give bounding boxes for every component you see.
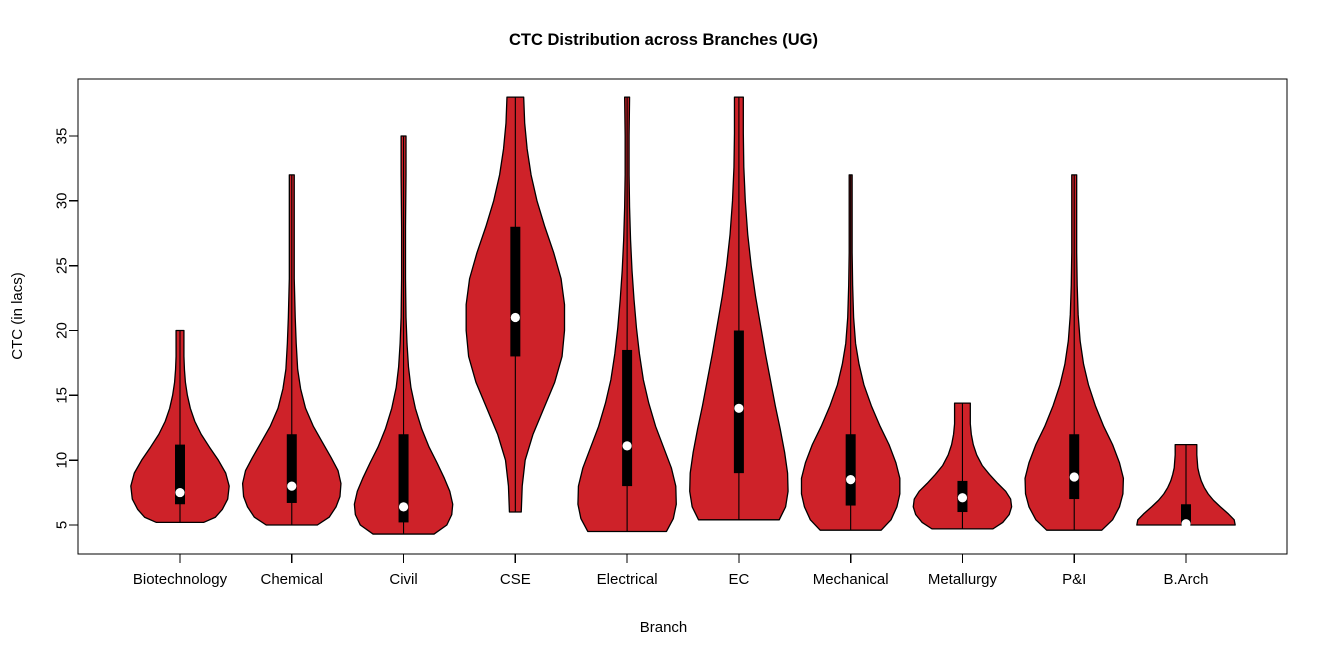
x-tick-label-ec: EC bbox=[728, 571, 749, 588]
x-axis-title: Branch bbox=[640, 619, 688, 636]
violin-iqr-box bbox=[622, 350, 632, 486]
y-tick-label: 35 bbox=[54, 128, 71, 145]
x-tick-label-civil: Civil bbox=[389, 571, 417, 588]
y-tick-label: 20 bbox=[54, 322, 71, 339]
x-tick-label-b-arch: B.Arch bbox=[1163, 571, 1208, 588]
y-tick-label: 15 bbox=[54, 387, 71, 404]
x-tick-label-cse: CSE bbox=[500, 571, 531, 588]
x-tick-label-mechanical: Mechanical bbox=[813, 571, 889, 588]
x-tick-label-electrical: Electrical bbox=[597, 571, 658, 588]
y-axis-title: CTC (in lacs) bbox=[9, 272, 26, 360]
y-tick-label: 30 bbox=[54, 192, 71, 209]
y-tick-label: 10 bbox=[54, 452, 71, 469]
violin-iqr-box bbox=[1069, 434, 1079, 499]
violin-median-marker bbox=[958, 493, 967, 502]
y-tick-label: 25 bbox=[54, 257, 71, 274]
violin-median-marker bbox=[175, 488, 184, 497]
violin-median-marker bbox=[1181, 519, 1190, 528]
violin-median-marker bbox=[734, 404, 743, 413]
violin-median-marker bbox=[846, 475, 855, 484]
y-tick-label: 5 bbox=[54, 521, 71, 529]
page-title: CTC Distribution across Branches (UG) bbox=[509, 31, 818, 49]
violin-plot-canvas: CTC Distribution across Branches (UG) CT… bbox=[0, 0, 1327, 653]
violin-median-marker bbox=[623, 441, 632, 450]
violin-median-marker bbox=[399, 502, 408, 511]
x-tick-label-metallurgy: Metallurgy bbox=[928, 571, 998, 588]
violin-plot-figure: CTC Distribution across Branches (UG) CT… bbox=[0, 0, 1327, 653]
violin-iqr-box bbox=[734, 331, 744, 474]
violin-iqr-box bbox=[846, 434, 856, 505]
plot-background bbox=[0, 0, 1327, 653]
violin-median-marker bbox=[287, 482, 296, 491]
x-tick-label-p-i: P&I bbox=[1062, 571, 1086, 588]
violin-median-marker bbox=[511, 313, 520, 322]
violin-iqr-box bbox=[287, 434, 297, 503]
violin-median-marker bbox=[1070, 472, 1079, 481]
x-tick-label-chemical: Chemical bbox=[261, 571, 324, 588]
violin-iqr-box bbox=[510, 227, 520, 357]
x-tick-label-biotechnology: Biotechnology bbox=[133, 571, 228, 588]
